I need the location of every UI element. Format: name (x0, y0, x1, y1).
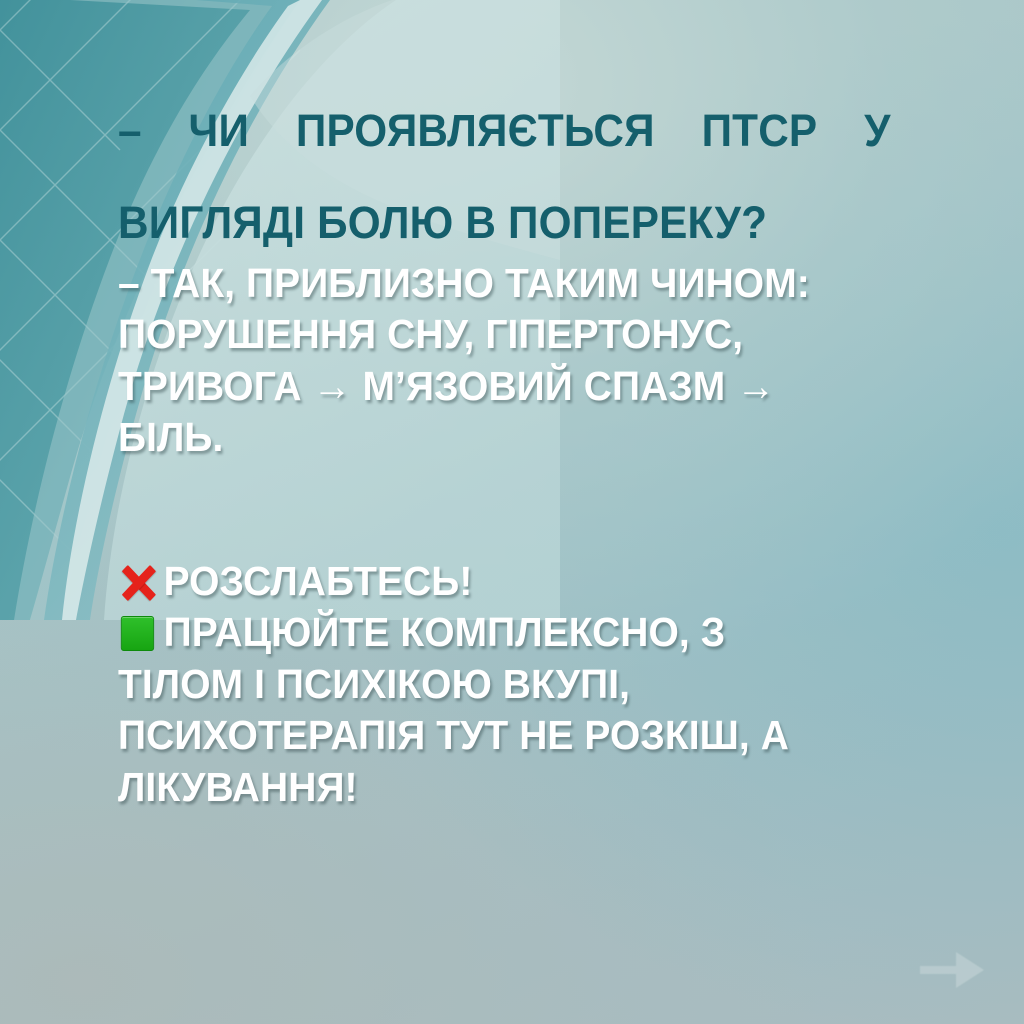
advice-good-line: ПРАЦЮЙТЕ КОМПЛЕКСНО, З (118, 607, 935, 658)
advice-bad-line: РОЗСЛАБТЕСЬ! (118, 556, 935, 607)
arrow-right-icon (770, 942, 1006, 998)
advice-good-line-4: ЛІКУВАННЯ! (118, 762, 935, 813)
answer-paragraph: – ТАК, ПРИБЛИЗНО ТАКИМ ЧИНОМ: ПОРУШЕННЯ … (118, 258, 935, 464)
headline-line-2: ВИГЛЯДІ БОЛЮ В ПОПЕРЕКУ? (118, 200, 891, 246)
answer-line-1: – ТАК, ПРИБЛИЗНО ТАКИМ ЧИНОМ: (118, 258, 935, 309)
answer-line-4: БІЛЬ. (118, 412, 935, 463)
watermark (770, 942, 1006, 998)
headline: – ЧИ ПРОЯВЛЯЄТЬСЯ ПТСР У ВИГЛЯДІ БОЛЮ В … (118, 108, 891, 246)
green-square-icon (118, 614, 160, 654)
advice-good-line-2: ТІЛОМ І ПСИХІКОЮ ВКУПІ, (118, 659, 935, 710)
answer-line-2: ПОРУШЕННЯ СНУ, ГІПЕРТОНУС, (118, 309, 935, 360)
cross-mark-icon (118, 563, 160, 603)
headline-line-1: – ЧИ ПРОЯВЛЯЄТЬСЯ ПТСР У (118, 108, 891, 200)
advice-bad-text: РОЗСЛАБТЕСЬ! (164, 556, 473, 607)
answer-line-3: ТРИВОГА → М’ЯЗОВИЙ СПАЗМ → (118, 361, 935, 412)
advice-good-line-3: ПСИХОТЕРАПІЯ ТУТ НЕ РОЗКІШ, А (118, 710, 935, 761)
advice-paragraph: РОЗСЛАБТЕСЬ! ПРАЦЮЙТЕ КОМПЛЕКСНО, З ТІЛО… (118, 556, 935, 813)
poster-canvas: – ЧИ ПРОЯВЛЯЄТЬСЯ ПТСР У ВИГЛЯДІ БОЛЮ В … (0, 0, 1024, 1024)
advice-good-line-1: ПРАЦЮЙТЕ КОМПЛЕКСНО, З (164, 607, 726, 658)
